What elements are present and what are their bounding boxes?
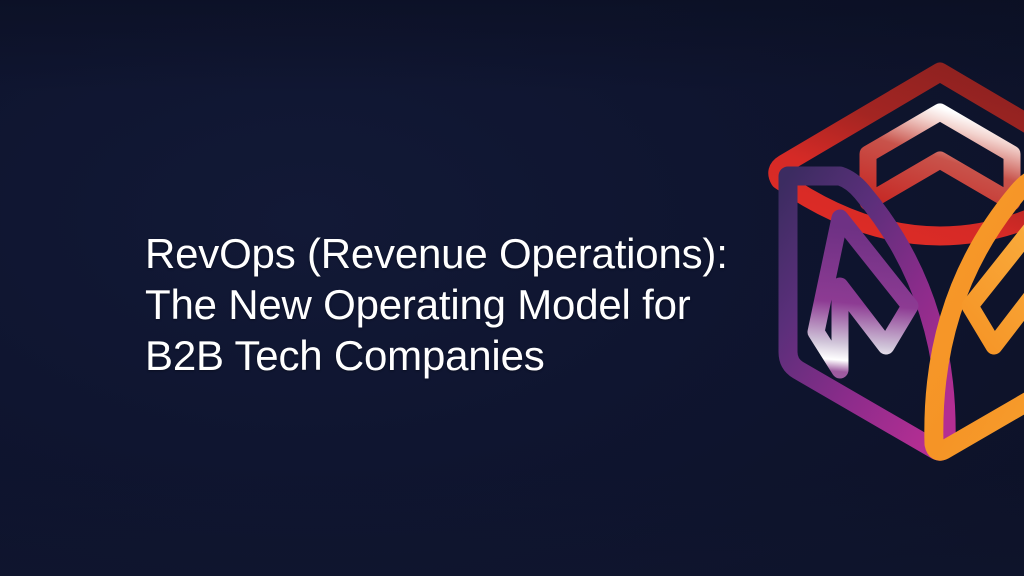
page-title: RevOps (Revenue Operations): The New Ope…: [145, 228, 785, 381]
title-line-1: RevOps (Revenue Operations):: [145, 228, 785, 279]
title-line-2: The New Operating Model for: [145, 279, 785, 330]
logo-face-top: [778, 72, 1024, 236]
title-line-3: B2B Tech Companies: [145, 330, 785, 381]
isometric-cube-logo: [744, 46, 1024, 466]
title-slide: RevOps (Revenue Operations): The New Ope…: [0, 0, 1024, 576]
